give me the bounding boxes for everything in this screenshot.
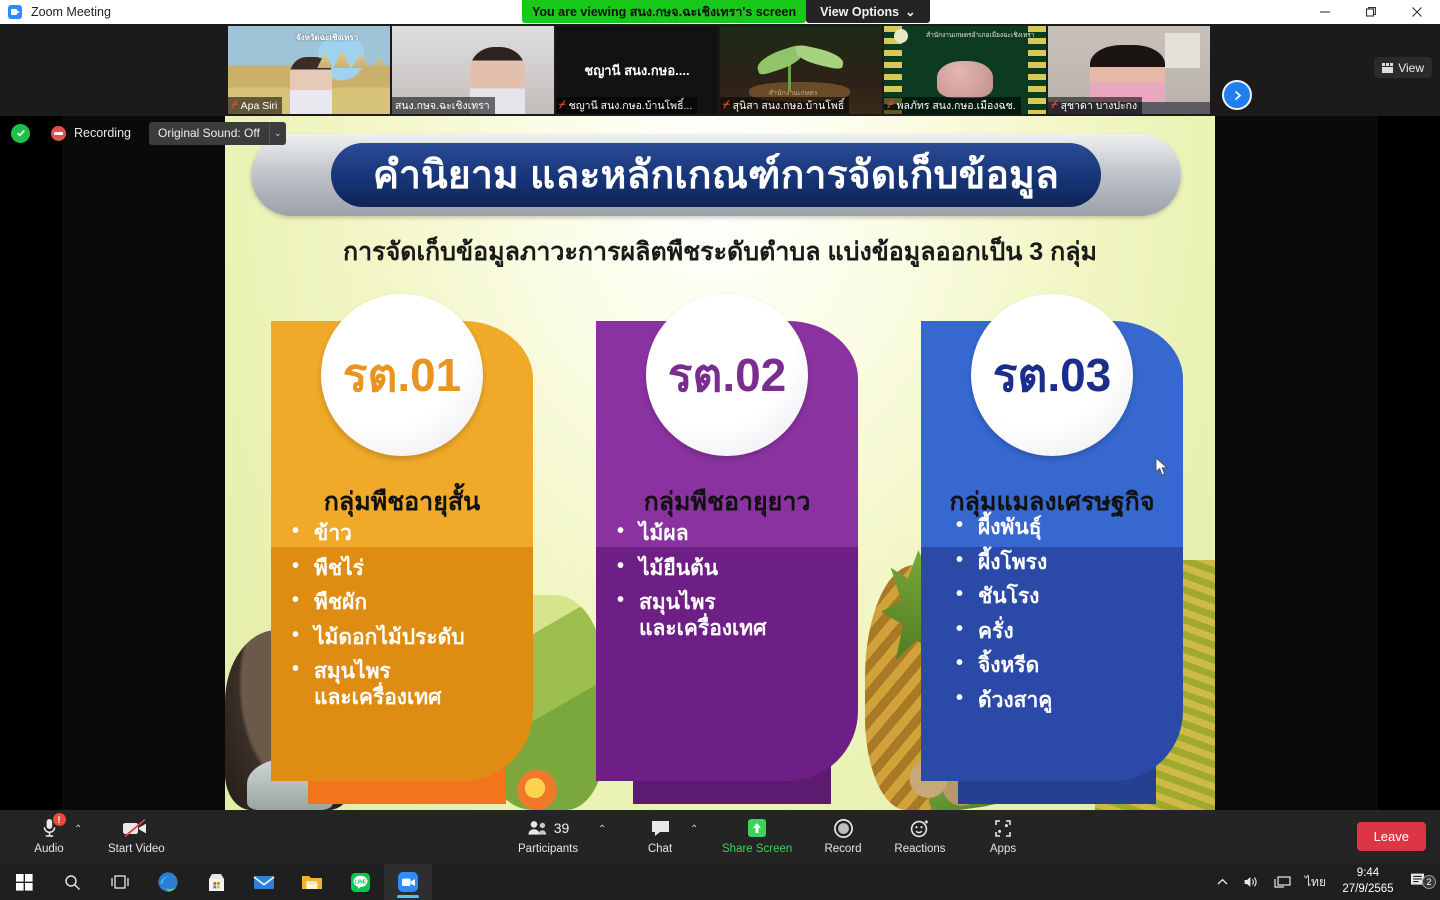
line-icon[interactable]: LINE (336, 864, 384, 900)
video-tile[interactable]: สำนักงานเกษตรอำเภอเมืองฉะเชิงเทรา ⌿ พลภั… (884, 26, 1046, 114)
maximize-restore-button[interactable] (1348, 0, 1394, 24)
svg-text:LINE: LINE (354, 879, 366, 885)
list-item-label: ไม้ผล (639, 522, 689, 545)
people-icon: 39 (527, 816, 570, 840)
mic-muted-icon: ⌿ (887, 100, 894, 111)
microphone-muted-icon: ! (41, 816, 58, 840)
chat-button[interactable]: Chat (633, 816, 687, 860)
mic-muted-icon: ⌿ (723, 100, 730, 111)
list-item-label: ผี้งพันธุ์ (978, 516, 1042, 539)
recording-label: Recording (74, 126, 131, 140)
list-item-label: สมุนไพร (639, 591, 716, 614)
tile-participant-name: สุนิสา สนง.กษอ.บ้านโพธิ์ (733, 97, 845, 114)
video-tile[interactable]: จังหวัดฉะเชิงเทรา ⌿ Apa Siri (228, 26, 390, 114)
list-item: ผี้งโพรง (956, 551, 1198, 575)
viewing-screen-label: You are viewing สนง.กษจ.ฉะเชิงเทรา's scr… (522, 0, 806, 23)
audio-alert-badge: ! (53, 813, 66, 826)
list-item: ผี้งพันธุ์ (956, 516, 1198, 540)
tile-name-badge: ⌿ Apa Siri (228, 97, 282, 114)
list-item: สมุนไพรและเครื่องเทศ (617, 591, 873, 640)
column-badge: รต.01 (321, 294, 483, 456)
column-heading: กลุ่มพืชอายุสั้น (248, 482, 556, 522)
list-item-label: ข้าว (314, 522, 352, 545)
participant-filmstrip: จังหวัดฉะเชิงเทรา ⌿ Apa Siri สนง.กษจ.ฉะเ… (0, 24, 1440, 116)
original-sound-label: Original Sound: Off (158, 126, 260, 140)
tile-overlay-text: จังหวัดฉะเชิงเทรา (296, 31, 358, 44)
camera-off-icon (121, 816, 151, 840)
record-circle-icon (833, 816, 854, 840)
task-view-icon[interactable] (96, 864, 144, 900)
audio-button[interactable]: ! Audio (22, 816, 76, 860)
start-video-button[interactable]: Start Video (108, 816, 165, 860)
share-screen-label: Share Screen (722, 843, 792, 855)
list-item: ข้าว (292, 522, 548, 546)
screen-share-banner: You are viewing สนง.กษจ.ฉะเชิงเทรา's scr… (522, 0, 930, 23)
shared-screen-stage: คำนิยาม และหลักเกณฑ์การจัดเก็บข้อมูล การ… (0, 116, 1440, 810)
view-options-button[interactable]: View Options ⌄ (806, 0, 929, 23)
share-screen-icon (746, 816, 768, 840)
apps-bracket-icon (992, 816, 1014, 840)
system-tray: ไทย 9:44 27/9/2565 2 (1209, 864, 1440, 900)
list-item-label: ชันโรง (978, 585, 1039, 608)
mouse-cursor (1155, 457, 1169, 482)
column-badge-label: รต.01 (343, 352, 462, 398)
tile-name-badge: ⌿ ชญานี สนง.กษอ.บ้านโพธิ์... (556, 97, 697, 114)
slide-subtitle: การจัดเก็บข้อมูลภาวะการผลิตพืชระดับตำบล … (225, 232, 1215, 272)
list-item: ด้วงสาคู (956, 689, 1198, 713)
view-layout-button[interactable]: View (1374, 57, 1432, 78)
close-button[interactable] (1394, 0, 1440, 24)
slide-column-rt03: รต.03 กลุ่มแมลงเศรษฐกิจ ผี้งพันธุ์ ผี้งโ… (898, 294, 1206, 804)
chat-dropdown-caret[interactable]: ⌃ (690, 824, 698, 835)
video-tile[interactable]: ⌿ สุชาดา บางปะกง (1048, 26, 1210, 114)
list-item-label: พืชผัก (314, 591, 367, 614)
zoom-logo-icon (8, 5, 22, 19)
smiley-plus-icon (909, 816, 931, 840)
wall-shape (1165, 33, 1201, 68)
chevron-down-icon: ⌄ (905, 4, 915, 19)
slide-title-plate: คำนิยาม และหลักเกณฑ์การจัดเก็บข้อมูล (251, 134, 1181, 216)
participant-silhouette (290, 57, 332, 114)
chat-bubble-icon (650, 816, 671, 840)
tile-overlay-text: สำนักงานเกษตรอำเภอเมืองฉะเชิงเทรา (926, 30, 1034, 40)
tile-participant-name: Apa Siri (241, 100, 278, 112)
window-controls (1302, 0, 1440, 24)
sprout-leaf (793, 44, 844, 70)
grid-view-icon (1382, 63, 1393, 73)
reactions-button[interactable]: Reactions (893, 816, 947, 860)
leave-label: Leave (1374, 829, 1409, 844)
column-badge: รต.03 (971, 294, 1133, 456)
participants-dropdown-caret[interactable]: ⌃ (598, 824, 606, 835)
object-shape (937, 61, 992, 98)
leave-button[interactable]: Leave (1357, 822, 1426, 851)
record-button[interactable]: Record (816, 816, 870, 860)
mic-muted-icon: ⌿ (231, 100, 238, 111)
presentation-slide: คำนิยาม และหลักเกณฑ์การจัดเก็บข้อมูล การ… (225, 116, 1215, 810)
list-item: ชันโรง (956, 585, 1198, 609)
list-item-label: ไม้ยืนต้น (639, 557, 718, 580)
list-item: จิ้งหรีด (956, 654, 1198, 678)
agency-seal-icon (894, 29, 908, 43)
input-language-indicator[interactable]: ไทย (1298, 873, 1333, 892)
zoom-meeting-toolbar: ! Audio ⌃ Start Video 39 Participants ⌃ (0, 810, 1440, 864)
list-item: ไม้ผล (617, 522, 873, 546)
apps-label: Apps (990, 843, 1016, 855)
reactions-label: Reactions (894, 843, 945, 855)
participants-label: Participants (518, 843, 578, 855)
list-item: ไม้ยืนต้น (617, 557, 873, 581)
tile-name-badge: ⌿ สุชาดา บางปะกง (1048, 97, 1142, 114)
share-screen-button[interactable]: Share Screen (722, 816, 792, 860)
window-title: Zoom Meeting (31, 5, 111, 19)
slide-column-rt02: รต.02 กลุ่มพืชอายุยาว ไม้ผล ไม้ยืนต้น สม… (573, 294, 881, 804)
mic-muted-icon: ⌿ (559, 100, 566, 111)
windows-taskbar: LINE ไทย 9 (0, 864, 1440, 900)
monitor-network-icon[interactable] (1267, 875, 1298, 889)
tile-participant-name: สนง.กษจ.ฉะเชิงเทรา (395, 97, 490, 114)
slide-columns: รต.01 กลุ่มพืชอายุสั้น ข้าว พืชไร่ พืชผั… (225, 294, 1215, 804)
chevron-down-icon: ⌄ (274, 128, 282, 139)
list-item: ไม้ดอกไม้ประดับ (292, 626, 548, 650)
input-language-label: ไทย (1305, 873, 1326, 892)
original-sound-dropdown-arrow[interactable]: ⌄ (269, 122, 286, 145)
list-item: พืชผัก (292, 591, 548, 615)
record-label: Record (824, 843, 861, 855)
meeting-info-bar: Recording Original Sound: Off ⌄ (0, 116, 300, 150)
participants-button[interactable]: 39 Participants (518, 816, 578, 860)
column-badge-label: รต.02 (668, 352, 787, 398)
list-item-label: ด้วงสาคู (978, 689, 1052, 712)
mail-icon[interactable] (240, 864, 288, 900)
column-badge-label: รต.03 (993, 352, 1112, 398)
list-item-label: พืชไร่ (314, 557, 364, 580)
zoom-taskbar-button[interactable] (384, 864, 432, 900)
list-item-label: ไม้ดอกไม้ประดับ (314, 626, 465, 649)
search-icon[interactable] (48, 864, 96, 900)
start-video-label: Start Video (108, 843, 165, 855)
tile-name-badge: ⌿ สุนิสา สนง.กษอ.บ้านโพธิ์ (720, 97, 849, 114)
tile-center-name: ชญานี สนง.กษอ.... (556, 60, 718, 81)
column-heading: กลุ่มพืชอายุยาว (573, 482, 881, 522)
shared-content-frame: คำนิยาม และหลักเกณฑ์การจัดเก็บข้อมูล การ… (62, 116, 1378, 810)
original-sound-button[interactable]: Original Sound: Off (149, 122, 269, 145)
list-item-continuation: และเครื่องเทศ (639, 617, 873, 641)
list-item: สมุนไพรและเครื่องเทศ (292, 660, 548, 709)
notification-icon[interactable]: 2 (1403, 872, 1440, 893)
list-item: พืชไร่ (292, 557, 548, 581)
chevron-right-icon[interactable] (1222, 80, 1252, 110)
folder-icon[interactable] (288, 864, 336, 900)
list-item: ครั่ง (956, 620, 1198, 644)
minimize-button[interactable] (1302, 0, 1348, 24)
audio-dropdown-caret[interactable]: ⌃ (74, 824, 82, 835)
list-item-continuation: และเครื่องเทศ (314, 686, 548, 710)
store-icon[interactable] (192, 864, 240, 900)
filmstrip-tiles: จังหวัดฉะเชิงเทรา ⌿ Apa Siri สนง.กษจ.ฉะเ… (228, 26, 1212, 114)
shield-check-icon[interactable] (11, 124, 30, 143)
column-item-list: ข้าว พืชไร่ พืชผัก ไม้ดอกไม้ประดับ สมุนไ… (292, 522, 548, 720)
page-title: คำนิยาม และหลักเกณฑ์การจัดเก็บข้อมูล (373, 156, 1059, 195)
chat-label: Chat (648, 843, 672, 855)
video-tile-active-speaker[interactable]: สนง.กษจ.ฉะเชิงเทรา (392, 26, 554, 114)
list-item-label: ครั่ง (978, 620, 1014, 643)
clock[interactable]: 9:44 27/9/2565 (1333, 866, 1403, 897)
mic-muted-icon: ⌿ (1051, 100, 1058, 111)
speaker-icon[interactable] (1236, 875, 1267, 889)
video-tile[interactable]: ชญานี สนง.กษอ.... ⌿ ชญานี สนง.กษอ.บ้านโพ… (556, 26, 718, 114)
view-toggle-label: View (1398, 61, 1424, 75)
notification-count: 2 (1422, 875, 1436, 889)
chevron-up-icon[interactable] (1209, 877, 1236, 887)
tile-name-badge: สนง.กษจ.ฉะเชิงเทรา (392, 97, 495, 114)
edge-icon[interactable] (144, 864, 192, 900)
apps-button[interactable]: Apps (976, 816, 1030, 860)
active-app-indicator (397, 895, 419, 898)
tile-name-badge: ⌿ พลภัทร สนง.กษอ.เมืองฉช. (884, 97, 1021, 114)
participants-count: 39 (554, 820, 570, 836)
audio-label: Audio (34, 843, 63, 855)
list-item-label: สมุนไพร (314, 660, 391, 683)
slide-title-box: คำนิยาม และหลักเกณฑ์การจัดเก็บข้อมูล (331, 143, 1101, 207)
clock-date: 27/9/2565 (1342, 882, 1393, 898)
slide-column-rt01: รต.01 กลุ่มพืชอายุสั้น ข้าว พืชไร่ พืชผั… (248, 294, 556, 804)
tile-participant-name: ชญานี สนง.กษอ.บ้านโพธิ์... (569, 97, 693, 114)
tile-participant-name: พลภัทร สนง.กษอ.เมืองฉช. (897, 97, 1016, 114)
column-item-list: ไม้ผล ไม้ยืนต้น สมุนไพรและเครื่องเทศ (617, 522, 873, 651)
view-options-label: View Options (820, 5, 899, 19)
start-button[interactable] (0, 864, 48, 900)
list-item-label: ผี้งโพรง (978, 551, 1047, 574)
list-item-label: จิ้งหรีด (978, 654, 1039, 677)
column-badge: รต.02 (646, 294, 808, 456)
tile-participant-name: สุชาดา บางปะกง (1061, 97, 1138, 114)
video-tile[interactable]: สำนักงานเกษตร ⌿ สุนิสา สนง.กษอ.บ้านโพธิ์ (720, 26, 882, 114)
clock-time: 9:44 (1357, 866, 1379, 882)
recording-dot-icon (51, 126, 66, 141)
column-item-list: ผี้งพันธุ์ ผี้งโพรง ชันโรง ครั่ง จิ้งหรี… (956, 516, 1198, 723)
